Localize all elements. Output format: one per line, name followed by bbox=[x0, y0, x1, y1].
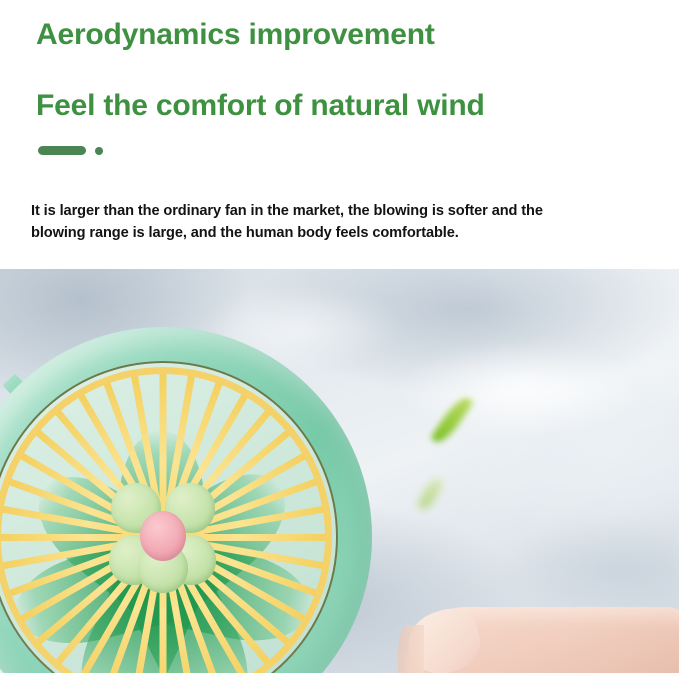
fan-flower-hub bbox=[109, 483, 217, 591]
headline-primary: Aerodynamics improvement bbox=[36, 16, 435, 54]
product-photo bbox=[0, 269, 679, 673]
text-panel: Aerodynamics improvement Feel the comfor… bbox=[0, 0, 679, 269]
divider-dot-icon bbox=[95, 147, 103, 155]
divider-bar bbox=[38, 146, 86, 155]
headline-secondary: Feel the comfort of natural wind bbox=[36, 87, 485, 125]
hand-holding-fan bbox=[398, 589, 679, 673]
finger-edge bbox=[398, 625, 424, 673]
product-feature-banner: Aerodynamics improvement Feel the comfor… bbox=[0, 0, 679, 673]
handheld-fan bbox=[0, 327, 372, 673]
divider bbox=[38, 146, 103, 155]
body-copy: It is larger than the ordinary fan in th… bbox=[31, 200, 551, 244]
flower-center-button bbox=[140, 511, 186, 561]
